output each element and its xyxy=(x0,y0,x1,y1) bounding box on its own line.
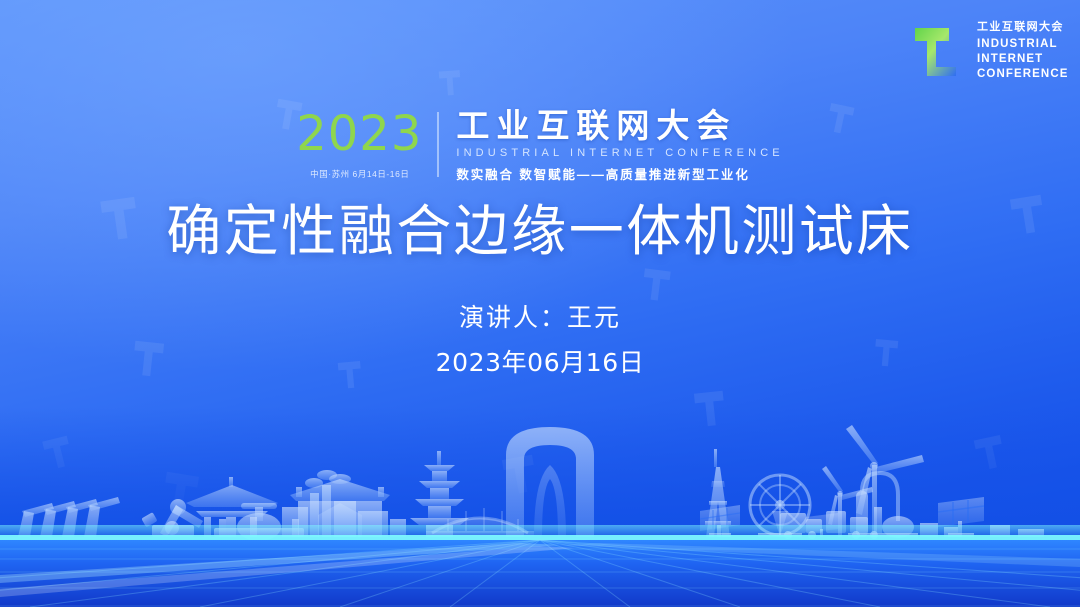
perspective-grid-floor xyxy=(0,540,1080,607)
factory-buildings-icon xyxy=(282,470,406,537)
solar-panel-icon xyxy=(806,513,838,537)
brand-name-cn: 工业互联网大会 xyxy=(977,22,1069,33)
event-year-block: 2023 中国·苏州 6月14日-16日 xyxy=(296,108,437,183)
ferris-wheel-icon xyxy=(750,475,810,537)
event-location-date: 中国·苏州 6月14日-16日 xyxy=(310,168,409,180)
brand-name-en-1: INDUSTRIAL xyxy=(977,37,1069,52)
wind-turbine-icon xyxy=(822,466,873,537)
presentation-date: 2023年06月16日 xyxy=(0,345,1080,381)
traditional-hall-icon xyxy=(290,479,390,537)
skyline-silhouettes xyxy=(18,425,1044,541)
industrial-city-skyline xyxy=(0,407,1080,607)
brand-name-en-3: CONFERENCE xyxy=(977,67,1069,82)
solar-panel-icon xyxy=(938,497,984,537)
perspective-grid-rows xyxy=(0,549,1080,606)
pipe-valve-icon xyxy=(214,503,304,541)
t-watermark-icon xyxy=(159,470,201,517)
event-title-cn: 工业互联网大会 xyxy=(456,108,783,144)
t-watermark-icon xyxy=(437,69,462,97)
presenter-name: 演讲人：王元 xyxy=(0,300,1080,336)
tower-icon xyxy=(705,449,731,537)
conference-brand-logo: 工业互联网大会 INDUSTRIAL INTERNET CONFERENCE xyxy=(912,22,1069,83)
presentation-slide: 工业互联网大会 INDUSTRIAL INTERNET CONFERENCE 2… xyxy=(0,0,1080,607)
t-watermark-icon xyxy=(500,453,540,497)
event-name-block: 工业互联网大会 INDUSTRIAL INTERNET CONFERENCE 数… xyxy=(439,108,783,183)
truck-icon xyxy=(780,507,882,539)
presenter-block: 演讲人：王元 2023年06月16日 xyxy=(0,300,1080,382)
bridge-icon xyxy=(426,508,534,537)
oil-pumpjack-icon xyxy=(18,497,120,537)
event-lockup: 2023 中国·苏州 6月14日-16日 工业互联网大会 INDUSTRIAL … xyxy=(0,108,1080,183)
t-watermark-icon xyxy=(972,433,1008,472)
robot-arm-icon xyxy=(141,499,203,537)
gate-of-the-orient-icon xyxy=(506,427,594,537)
event-title-en: INDUSTRIAL INTERNET CONFERENCE xyxy=(456,147,783,159)
event-year: 2023 xyxy=(296,110,422,158)
road-light-streaks xyxy=(0,543,1080,597)
conference-t-logo-icon xyxy=(912,25,968,79)
t-watermark-icon xyxy=(692,389,728,429)
t-watermark-icon xyxy=(41,434,76,472)
wind-turbine-icon xyxy=(846,425,924,537)
solar-panel-icon xyxy=(700,505,740,537)
brand-name-en-2: INTERNET xyxy=(977,52,1069,67)
t-watermark-icon xyxy=(640,267,673,303)
pagoda-icon xyxy=(410,451,469,537)
page-title: 确定性融合边缘一体机测试床 xyxy=(0,199,1080,264)
chinese-pavilion-icon xyxy=(186,477,278,537)
event-slogan: 数实融合 数智赋能——高质量推进新型工业化 xyxy=(456,164,783,183)
storage-tank-icon xyxy=(848,473,918,538)
